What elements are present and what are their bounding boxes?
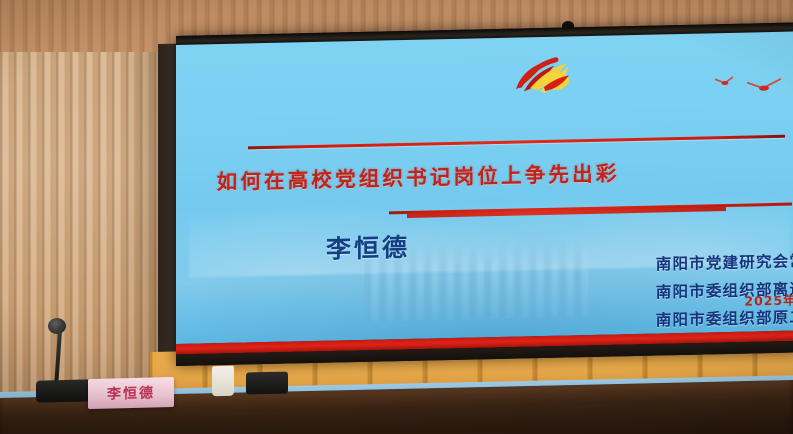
ccp-hammer-sickle-emblem: [510, 54, 572, 97]
slide-credentials-block: 南阳市党建研究会常务副会长 南阳市委组织部离退休干部党支部书记 南阳市委组织部原…: [492, 181, 793, 320]
microphone-base: [36, 379, 94, 402]
desk-nameplate: 李恒德: [88, 377, 174, 409]
slide-date: 2025年7月: [744, 289, 793, 310]
title-divider-rule: [248, 135, 786, 150]
projection-screen: 如何在高校党组织书记岗位上争先出彩 李恒德 南阳市党建研究会常务副会长 南阳市委…: [176, 22, 793, 366]
credential-line: 南阳市党建研究会常务副会长: [656, 249, 793, 275]
drinking-cup: [212, 366, 234, 396]
presentation-photo-scene: 如何在高校党组织书记岗位上争先出彩 李恒德 南阳市党建研究会常务副会长 南阳市委…: [0, 0, 793, 434]
presentation-slide: 如何在高校党组织书记岗位上争先出彩 李恒德 南阳市党建研究会常务副会长 南阳市委…: [176, 31, 793, 344]
flying-birds-decoration: [709, 68, 789, 100]
slide-speaker-name: 李恒德: [326, 228, 410, 266]
desk-nameplate-text: 李恒德: [107, 382, 155, 403]
desk-device: [246, 372, 288, 395]
